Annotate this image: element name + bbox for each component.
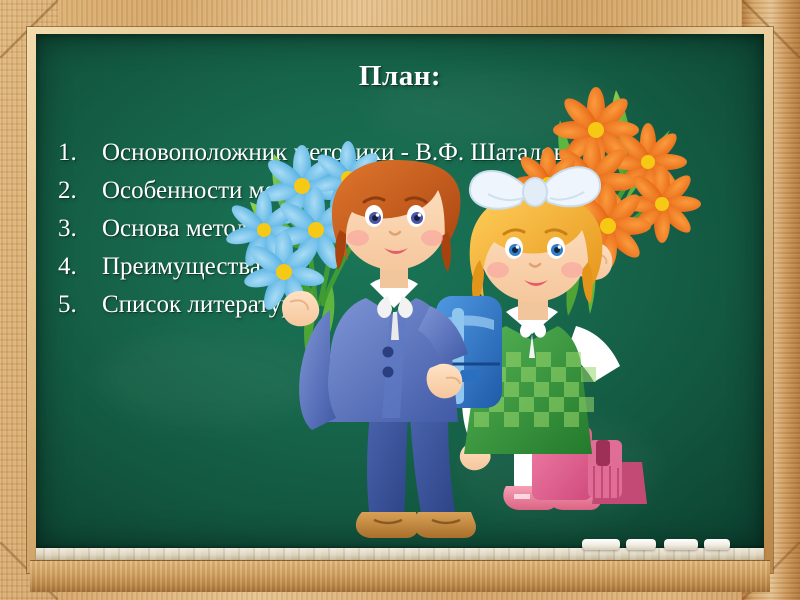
list-item-label: Список литературы: [102, 286, 311, 324]
list-item-number: 3.: [58, 210, 102, 248]
list-item-number: 1.: [58, 134, 102, 172]
list-item: 3. Основа методики: [58, 210, 724, 248]
list-item: 2. Особенности методики: [58, 172, 724, 210]
chalk-smudge: [456, 414, 656, 524]
page-title: План:: [36, 60, 764, 93]
chalk-piece: [626, 539, 656, 550]
plan-list: 1. Основоположник методики - В.Ф. Шатало…: [58, 134, 724, 324]
girl-pinafore: [464, 326, 592, 454]
girl-right-sleeve: [566, 326, 620, 382]
girl-shoe: [503, 486, 558, 510]
list-item-number: 5.: [58, 286, 102, 324]
girl-satchel: [532, 402, 647, 504]
list-item-number: 4.: [58, 248, 102, 286]
list-item: 4. Преимущества: [58, 248, 724, 286]
pinafore-check-pattern: [474, 352, 596, 427]
list-item: 1. Основоположник методики - В.Ф. Шатало…: [58, 134, 724, 172]
boy-trousers: [367, 414, 408, 520]
girl-hand: [460, 442, 491, 470]
boy-shoe: [414, 512, 476, 538]
girl-left-sleeve: [462, 334, 500, 450]
list-item-label: Особенности методики: [102, 172, 350, 210]
boy-hand: [427, 364, 463, 399]
chalk-ledge-shelf: [30, 560, 770, 592]
boy-shoe: [356, 512, 419, 538]
jacket-button: [383, 367, 394, 378]
chalk-piece: [704, 539, 730, 550]
boy-left-sleeve: [299, 310, 336, 430]
chalkboard-surface: План: 1. Основоположник методики - В.Ф. …: [36, 34, 764, 548]
chalk-smudge: [96, 334, 316, 424]
chalk-piece: [582, 539, 620, 550]
jacket-button: [383, 347, 394, 358]
list-item-label: Преимущества: [102, 248, 261, 286]
chalk-piece: [664, 539, 698, 550]
list-item: 5. Список литературы: [58, 286, 724, 324]
chalkboard-frame: План: 1. Основоположник методики - В.Ф. …: [0, 0, 800, 600]
list-item-label: Основа методики: [102, 210, 287, 248]
girl-shoe: [547, 486, 601, 510]
list-item-label: Основоположник методики - В.Ф. Шаталов: [102, 134, 565, 172]
list-item-number: 2.: [58, 172, 102, 210]
boy-trousers: [410, 414, 456, 518]
